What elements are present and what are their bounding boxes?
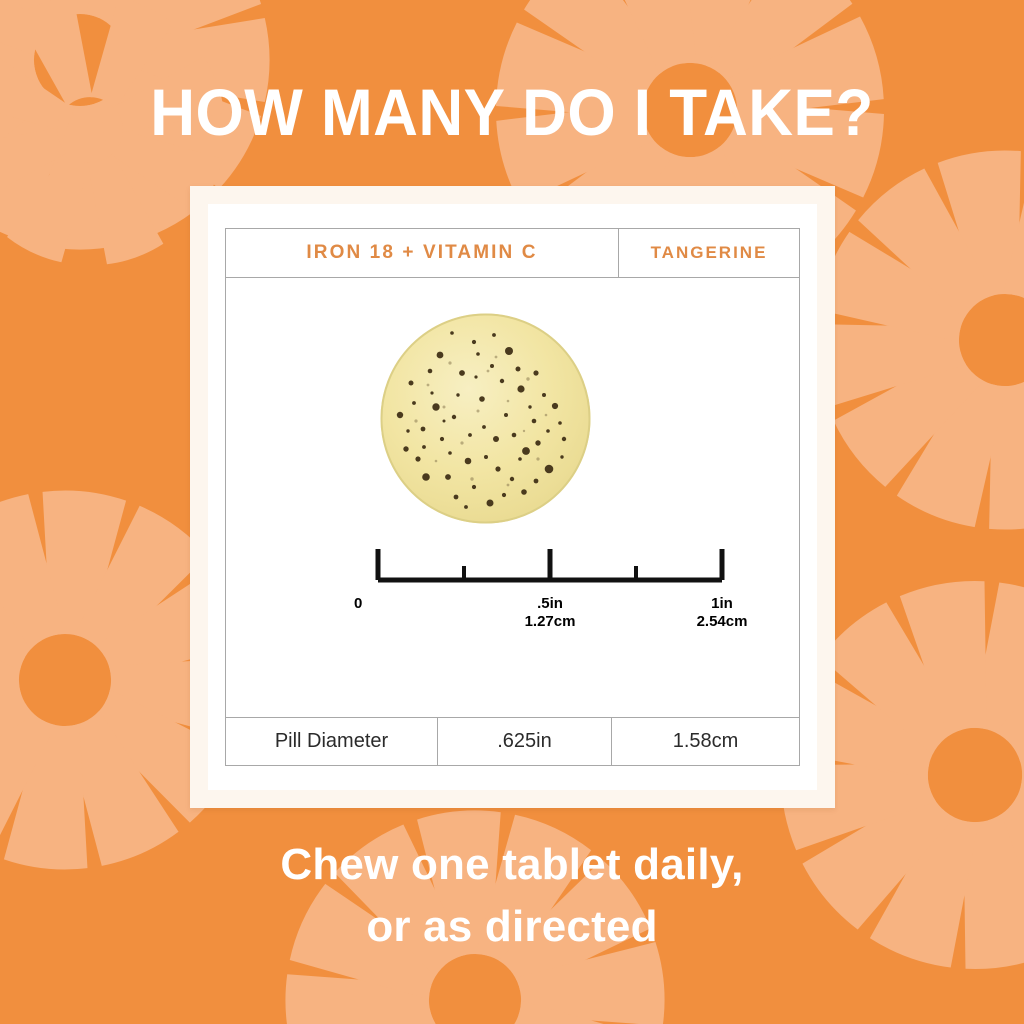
product-card: IRON 18 + VITAMIN C TANGERINE bbox=[190, 186, 835, 808]
spec-label-cell: Pill Diameter bbox=[226, 718, 438, 765]
ruler-label-half: .5in 1.27cm bbox=[480, 595, 620, 631]
poster-root: HOW MANY DO I TAKE? IRON 18 + VITAMIN C … bbox=[0, 0, 1024, 1024]
caption-line-2: or as directed bbox=[0, 896, 1024, 958]
spec-cm-cell: 1.58cm bbox=[612, 718, 799, 765]
product-card-inner: IRON 18 + VITAMIN C TANGERINE bbox=[208, 204, 817, 790]
product-name-cell: IRON 18 + VITAMIN C bbox=[226, 229, 619, 277]
ruler-one-cm: 2.54cm bbox=[652, 613, 792, 631]
round-tablet-icon bbox=[378, 311, 593, 526]
ruler-zero-in: 0 bbox=[354, 595, 362, 612]
dosage-caption: Chew one tablet daily, or as directed bbox=[0, 834, 1024, 958]
size-ruler: 0 .5in 1.27cm 1in 2.54cm bbox=[226, 533, 801, 638]
ruler-label-zero: 0 bbox=[354, 595, 402, 613]
flavor-cell: TANGERINE bbox=[619, 229, 799, 277]
page-title: HOW MANY DO I TAKE? bbox=[31, 78, 994, 146]
caption-line-1: Chew one tablet daily, bbox=[0, 834, 1024, 896]
spec-table-row: Pill Diameter .625in 1.58cm bbox=[225, 718, 800, 766]
spec-inches-cell: .625in bbox=[438, 718, 612, 765]
ruler-half-cm: 1.27cm bbox=[480, 613, 620, 631]
ruler-half-in: .5in bbox=[480, 595, 620, 613]
ruler-label-one: 1in 2.54cm bbox=[652, 595, 792, 631]
pill-display-area: 0 .5in 1.27cm 1in 2.54cm bbox=[225, 278, 800, 718]
product-label-header: IRON 18 + VITAMIN C TANGERINE bbox=[225, 228, 800, 278]
ruler-one-in: 1in bbox=[652, 595, 792, 613]
